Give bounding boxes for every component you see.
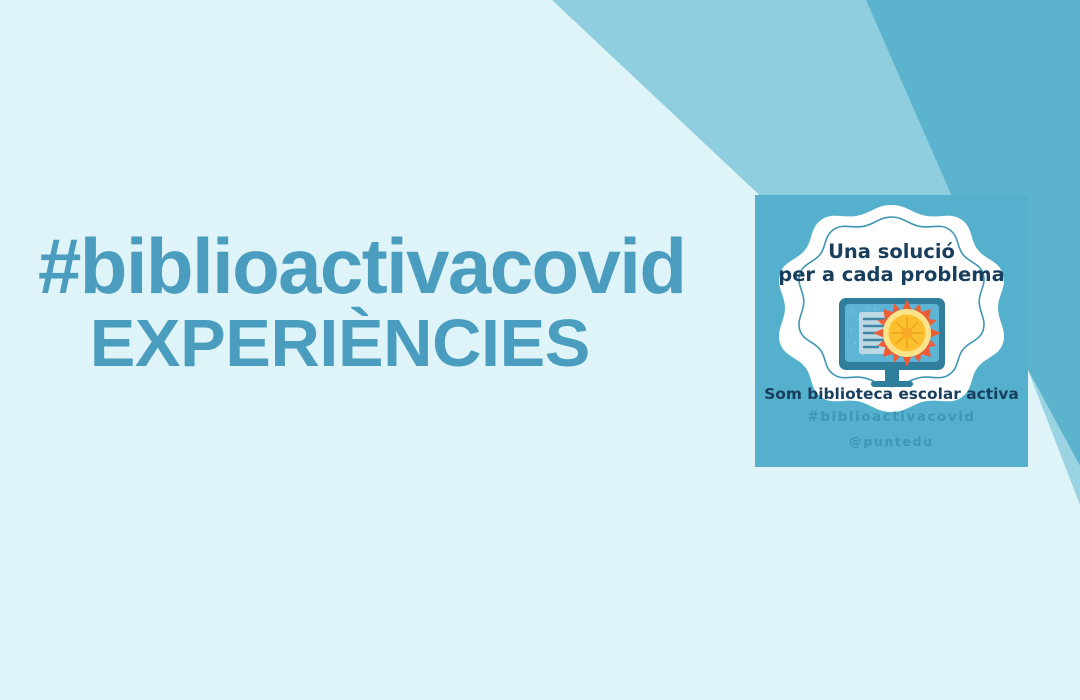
poster-canvas: #biblioactivacovid EXPERIÈNCIES Una solu… [0, 0, 1080, 700]
monitor-stand-neck [885, 370, 899, 382]
logo-badge: Una solució per a cada problema [755, 195, 1028, 467]
badge-handle: @puntedu [849, 434, 934, 449]
virus-sun-icon [873, 299, 941, 367]
logo-card: Una solució per a cada problema [755, 195, 1028, 467]
badge-hashtag: #biblioactivacovid [807, 409, 975, 425]
badge-title-line2: per a cada problema [778, 263, 1004, 286]
headline-hashtag: #biblioactivacovid [0, 228, 740, 304]
shape-light-sliver [1028, 370, 1080, 505]
badge-title-line1: Una solució [828, 240, 955, 263]
headline-block: #biblioactivacovid EXPERIÈNCIES [0, 228, 740, 377]
badge-tagline: Som biblioteca escolar activa [764, 385, 1019, 403]
virus-core [902, 328, 913, 339]
headline-subtitle: EXPERIÈNCIES [0, 310, 755, 377]
